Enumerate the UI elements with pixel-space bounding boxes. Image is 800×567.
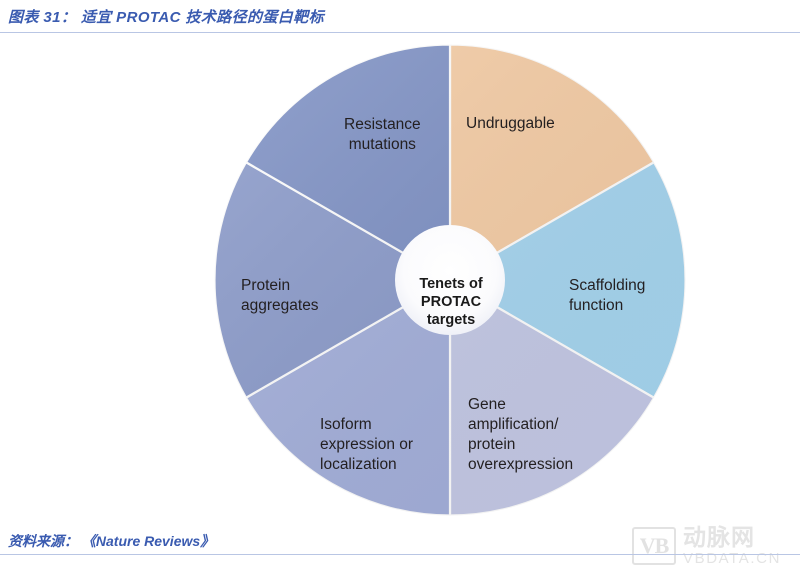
watermark-logo-icon: VB [632,527,676,565]
slice-label-protein-aggregates: Protein aggregates [241,276,319,316]
title-divider [0,32,800,33]
page-title: 图表 31： 适宜 PROTAC 技术路径的蛋白靶标 [8,6,324,27]
slice-label-gene-amplification: Gene amplification/ protein overexpressi… [468,395,573,475]
slice-label-resistance-mutations: Resistance mutations [344,115,421,155]
slice-label-isoform-expression: Isoform expression or localization [320,415,413,475]
watermark-vbdata: VB 动脉网 VBDATA.CN [632,526,781,566]
pie-center-label: Tenets of PROTAC targets [403,275,499,329]
watermark-cn-text: 动脉网 [683,526,781,549]
source-note: 资料来源： 《Nature Reviews》 [8,531,214,551]
figure-pie-chart: Undruggable Scaffolding function Gene am… [0,34,800,526]
footer-divider [0,554,800,555]
watermark-text: 动脉网 VBDATA.CN [683,526,781,566]
slice-label-scaffolding-function: Scaffolding function [569,276,645,316]
slice-label-undruggable: Undruggable [466,114,555,134]
